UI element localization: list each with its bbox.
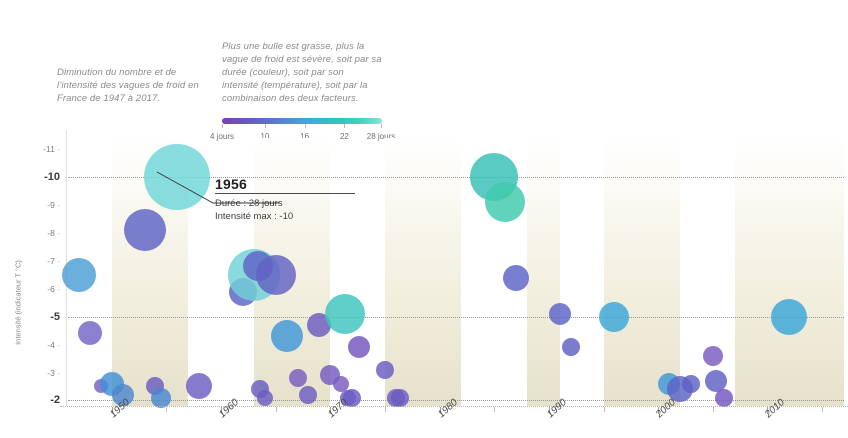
cold-wave-bubble[interactable]	[715, 389, 733, 407]
y-tick-dash: -	[55, 368, 60, 378]
cold-wave-bubble[interactable]	[682, 375, 700, 393]
y-tick-label: -3	[47, 368, 55, 378]
callout-divider	[215, 193, 355, 194]
y-axis: Intensité (indicateur T °C) -11 --10-9 -…	[0, 120, 68, 420]
callout-1956: 1956 Durée : 28 jours Intensité max : -1…	[215, 176, 355, 223]
y-tick-dash: -	[55, 284, 60, 294]
y-axis-tick: -9 -	[47, 200, 60, 210]
legend-tick	[265, 124, 266, 128]
y-tick-label: -10	[44, 171, 60, 183]
y-axis-tick: -2	[50, 394, 60, 406]
chart-subtitle: Diminution du nombre et de l’intensité d…	[57, 66, 207, 105]
cold-wave-bubble[interactable]	[325, 294, 365, 334]
x-axis-tick-labels: 1950196019701980199020002010	[68, 412, 844, 438]
y-axis-tick: -5	[50, 311, 60, 323]
callout-intensity: Intensité max : -10	[215, 210, 355, 223]
y-axis-title: Intensité (indicateur T °C)	[14, 233, 23, 373]
y-tick-dash: -	[55, 228, 60, 238]
decade-band	[735, 138, 844, 406]
cold-wave-bubble[interactable]	[78, 321, 102, 345]
cold-wave-bubble[interactable]	[144, 144, 210, 210]
y-tick-dash: -	[55, 200, 60, 210]
legend-tick	[305, 124, 306, 128]
y-tick-label: -8	[47, 228, 55, 238]
decade-band	[385, 138, 462, 406]
y-axis-tick: -11 -	[43, 144, 60, 154]
cold-wave-bubble[interactable]	[549, 303, 571, 325]
cold-wave-bubble[interactable]	[62, 258, 96, 292]
y-axis-tick: -4 -	[47, 340, 60, 350]
cold-wave-bubble[interactable]	[256, 255, 296, 295]
cold-wave-bubble[interactable]	[391, 389, 409, 407]
decade-band	[527, 138, 560, 406]
cold-wave-bubble[interactable]	[257, 390, 273, 406]
y-axis-tick: -8 -	[47, 228, 60, 238]
cold-wave-bubble[interactable]	[271, 320, 303, 352]
y-tick-dash: -	[55, 340, 60, 350]
y-axis-tick: -10	[44, 171, 60, 183]
y-tick-label: -5	[50, 311, 60, 323]
chart-canvas: Diminution du nombre et de l’intensité d…	[0, 0, 848, 438]
y-tick-label: -9	[47, 200, 55, 210]
y-tick-label: -11	[43, 144, 55, 154]
legend-tick	[344, 124, 345, 128]
y-tick-label: -4	[47, 340, 55, 350]
y-tick-label: -2	[50, 394, 60, 406]
cold-wave-bubble[interactable]	[485, 182, 525, 222]
y-tick-label: -6	[47, 284, 55, 294]
cold-wave-bubble[interactable]	[348, 336, 370, 358]
cold-wave-bubble[interactable]	[376, 361, 394, 379]
y-axis-tick: -3 -	[47, 368, 60, 378]
cold-wave-bubble[interactable]	[503, 265, 529, 291]
decade-band	[604, 138, 681, 406]
cold-wave-bubble[interactable]	[562, 338, 580, 356]
cold-wave-bubble[interactable]	[151, 388, 171, 408]
callout-duration: Durée : 28 jours	[215, 197, 355, 210]
cold-wave-bubble[interactable]	[703, 346, 723, 366]
cold-wave-bubble[interactable]	[124, 209, 166, 251]
legend-tick	[381, 124, 382, 128]
y-tick-label: -7	[47, 256, 55, 266]
y-axis-tick: -7 -	[47, 256, 60, 266]
plot-area	[68, 138, 844, 406]
cold-wave-bubble[interactable]	[599, 302, 629, 332]
callout-year: 1956	[215, 176, 355, 192]
cold-wave-bubble[interactable]	[186, 373, 212, 399]
gridline	[68, 317, 844, 318]
legend-tick-marks	[222, 124, 382, 130]
y-axis-tick: -6 -	[47, 284, 60, 294]
legend-description: Plus une bulle est grasse, plus la vague…	[222, 40, 382, 105]
y-tick-dash: -	[55, 256, 60, 266]
legend-tick	[222, 124, 223, 128]
cold-wave-bubble[interactable]	[289, 369, 307, 387]
y-tick-dash: -	[55, 144, 60, 154]
cold-wave-bubble[interactable]	[771, 299, 807, 335]
